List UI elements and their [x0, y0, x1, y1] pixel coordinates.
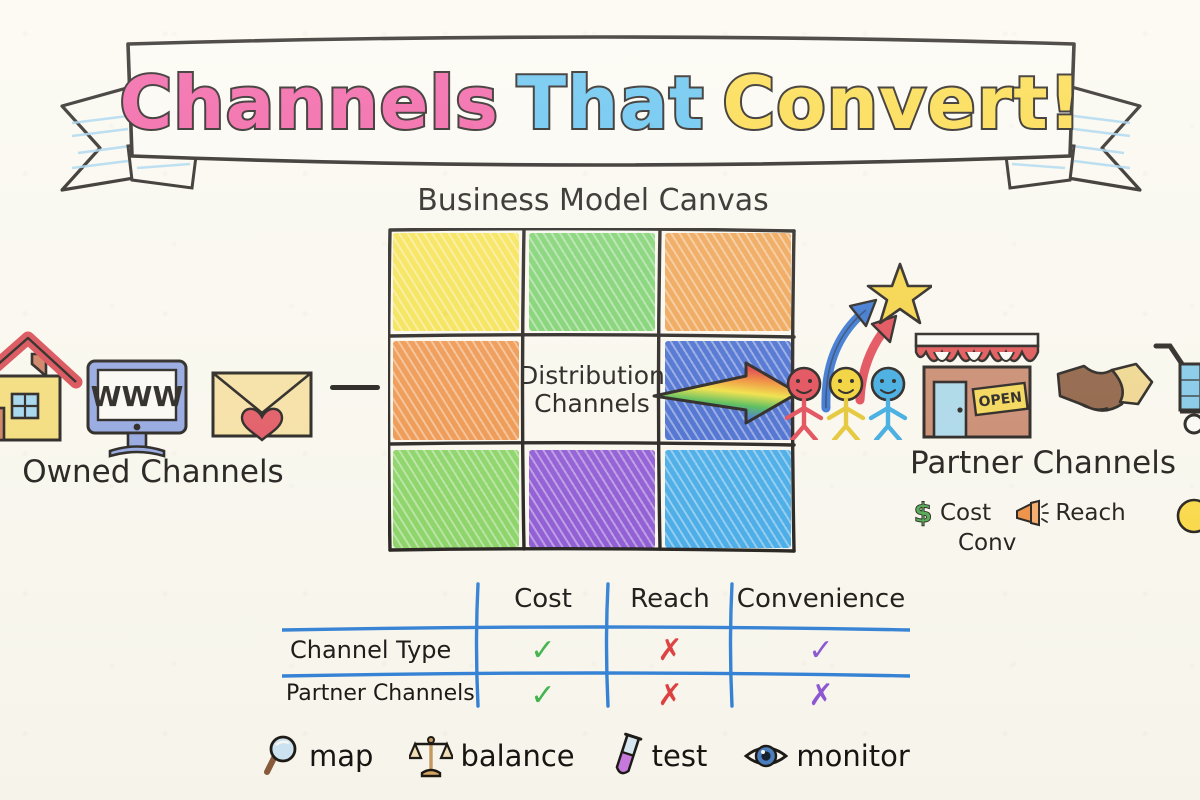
monitor-icon: WWW	[88, 361, 186, 456]
footer-label-test: test	[652, 739, 708, 773]
banner-title: Channels That Convert!	[42, 28, 1160, 193]
canvas-cell-center[interactable]: Distribution Channels	[524, 336, 660, 444]
partner-channels-group: OPEN	[908, 312, 1200, 442]
footer-item-monitor[interactable]: monitor	[743, 739, 909, 773]
footer-actions: map balance test	[262, 726, 962, 786]
owned-channels-group: WWW Owned Channels	[0, 318, 388, 493]
storefront-icon: OPEN	[916, 334, 1038, 437]
megaphone-icon	[1015, 499, 1049, 527]
canvas-title: Business Model Canvas	[388, 183, 798, 218]
legend-label-reach: Reach	[1055, 500, 1125, 526]
table-cell-mark: ✓	[732, 633, 910, 668]
stick-figure-red	[787, 368, 821, 440]
table-header-convenience: Convenience	[732, 584, 910, 614]
title-word-2: That	[517, 61, 704, 145]
footer-label-monitor: monitor	[796, 739, 909, 773]
table-header-cost: Cost	[478, 584, 608, 614]
footer-item-test[interactable]: test	[611, 732, 708, 780]
table-row-label-channel-type: Channel Type	[290, 636, 451, 664]
legend-item-cost: $ Cost	[912, 498, 991, 528]
monitor-www-text: WWW	[91, 380, 184, 413]
table-cell-mark: ✗	[608, 678, 732, 713]
shopping-cart-icon	[1156, 346, 1200, 433]
canvas-cell[interactable]	[660, 228, 796, 336]
canvas-cell[interactable]	[524, 445, 660, 553]
footer-item-map[interactable]: map	[262, 734, 373, 778]
legend-label-cost: Cost	[940, 500, 991, 526]
stick-figure-blue	[871, 368, 905, 440]
magnifier-icon	[262, 734, 302, 778]
eye-icon	[743, 739, 789, 773]
partner-channels-label: Partner Channels	[908, 445, 1178, 481]
table-cell-mark: ✓	[478, 633, 608, 668]
distribution-line-2: Channels	[534, 390, 650, 418]
balance-scale-icon	[409, 733, 453, 779]
comparison-table: Cost Reach Convenience Channel Type Part…	[282, 578, 910, 708]
test-tube-icon	[611, 732, 645, 780]
legend-item-reach: Reach	[1015, 499, 1125, 527]
svg-text:$: $	[914, 498, 933, 528]
footer-label-balance: balance	[460, 739, 574, 773]
house-icon	[0, 338, 76, 440]
legend-label-conv: Conv	[958, 530, 1016, 556]
title-banner: Channels That Convert!	[42, 28, 1160, 193]
canvas-cell[interactable]	[388, 228, 524, 336]
rainbow-arrow	[650, 360, 802, 426]
canvas-cell[interactable]	[388, 336, 524, 444]
coin-icon	[1176, 496, 1200, 536]
partner-legend: $ Cost Reach Conv	[912, 498, 1200, 556]
table-cell-mark: ✗	[608, 633, 732, 668]
table-header-reach: Reach	[608, 584, 732, 614]
envelope-heart-icon	[213, 373, 311, 440]
table-cell-mark: ✗	[732, 678, 910, 713]
distribution-line-1: Distribution	[519, 362, 665, 390]
connector-dash	[330, 385, 380, 390]
handshake-icon	[1058, 364, 1152, 411]
title-word-1: Channels	[119, 61, 499, 145]
dollar-icon: $	[912, 498, 934, 528]
legend-item-conv: Conv	[958, 530, 1016, 556]
owned-channels-label: Owned Channels	[0, 454, 318, 490]
infographic-canvas: Channels That Convert! Business Model Ca…	[0, 0, 1200, 800]
stick-figure-yellow	[829, 368, 863, 440]
table-row-label-partner-channels: Partner Channels	[286, 681, 475, 706]
footer-label-map: map	[309, 739, 373, 773]
footer-item-balance[interactable]: balance	[409, 733, 574, 779]
canvas-cell[interactable]	[660, 445, 796, 553]
canvas-cell[interactable]	[388, 445, 524, 553]
canvas-cell[interactable]	[524, 228, 660, 336]
title-word-3: Convert!	[722, 61, 1082, 145]
table-cell-mark: ✓	[478, 678, 608, 713]
